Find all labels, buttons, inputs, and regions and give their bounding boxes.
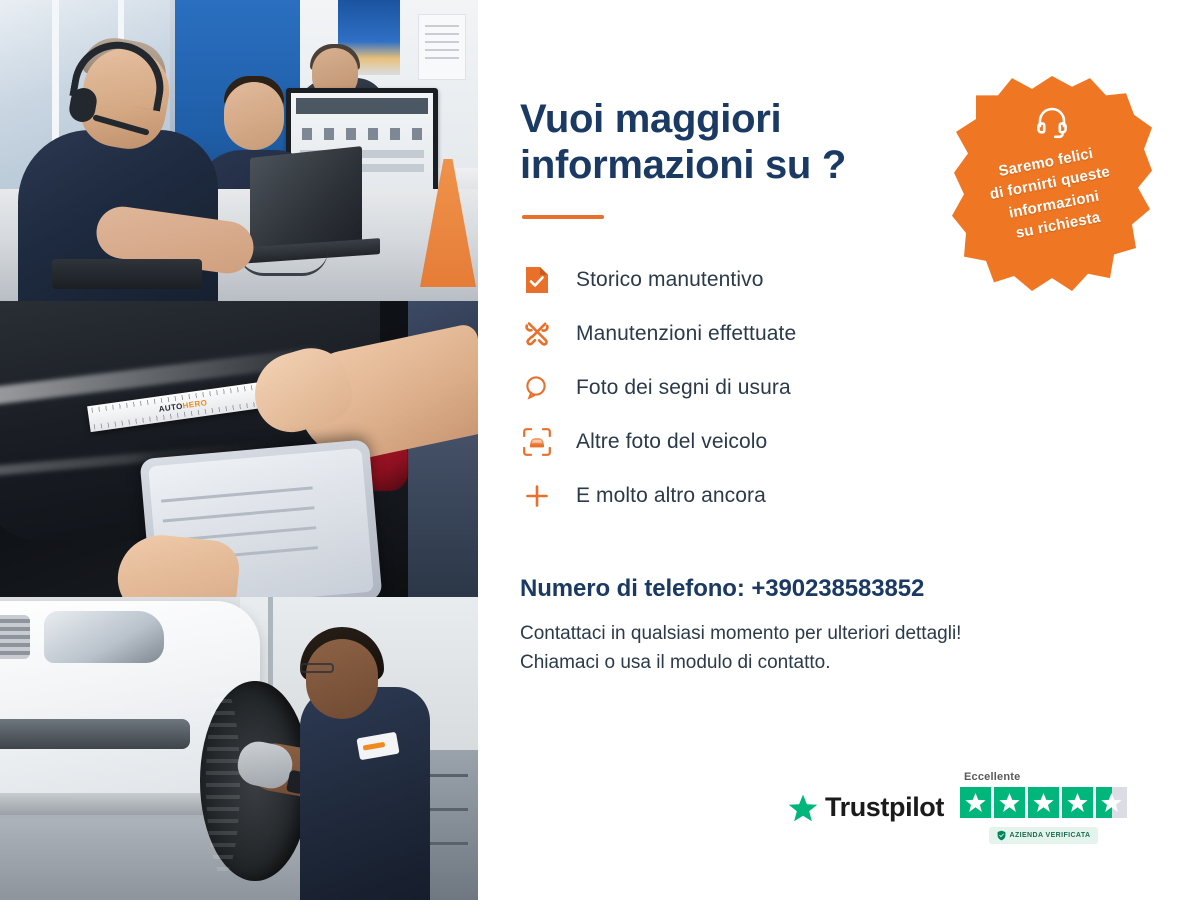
car-grille (0, 615, 30, 659)
monitor-screen-header (296, 98, 428, 114)
rating-star-filled (1028, 787, 1059, 818)
feature-label: Manutenzioni effettuate (576, 322, 796, 346)
feature-label: Foto dei segni di usura (576, 376, 791, 400)
laptop-screen (250, 146, 362, 254)
monitor-screen-icons (302, 128, 422, 140)
contact-detail-text: Contattaci in qualsiasi momento per ulte… (520, 619, 1140, 678)
contact-info-banner: AUTOHERO (0, 0, 1200, 900)
feature-label: Altre foto del veicolo (576, 430, 767, 454)
car-inspection-photo: AUTOHERO (0, 301, 478, 597)
mechanic-head (306, 639, 378, 719)
rating-star-filled (960, 787, 991, 818)
rating-star-filled (1062, 787, 1093, 818)
headset-icon (1032, 102, 1072, 142)
wheel-service-scene (0, 597, 478, 900)
car-inspection-scene: AUTOHERO (0, 301, 478, 597)
page-title: Vuoi maggiori informazioni su ? (520, 96, 940, 189)
accent-divider (522, 215, 604, 219)
trustpilot-star-icon (788, 793, 818, 823)
headline-line-two: informazioni su ? (520, 143, 846, 187)
feature-list: Storico manutentivo Manutenzioni effettu… (520, 253, 1200, 523)
plus-icon (520, 479, 554, 513)
feature-label: E molto altro ancora (576, 484, 766, 508)
desk-tablet (52, 259, 202, 289)
trustpilot-logo: Trustpilot (788, 792, 944, 823)
mechanic-body (300, 687, 430, 900)
request-info-badge: Saremo felici di fornirti queste informa… (952, 76, 1152, 291)
agent-two-head (224, 82, 284, 150)
call-center-scene (0, 0, 478, 301)
trustpilot-wordmark: Trustpilot (825, 792, 944, 823)
car-headlight (44, 611, 164, 663)
feature-item-vehicle-photos: Altre foto del veicolo (520, 415, 1200, 469)
verified-company-badge: AZIENDA VERIFICATA (989, 827, 1099, 844)
trustpilot-widget[interactable]: Trustpilot Eccellente AZIENDA VERIFICATA (788, 771, 1127, 844)
call-center-agents-photo (0, 0, 478, 301)
car-scan-icon (520, 425, 554, 459)
info-content-panel: Vuoi maggiori informazioni su ? Storico … (478, 0, 1200, 900)
document-check-icon (520, 263, 554, 297)
rating-star-filled (994, 787, 1025, 818)
contact-detail-line-one: Contattaci in qualsiasi momento per ulte… (520, 619, 1140, 648)
trustpilot-star-rating (960, 787, 1127, 818)
trustpilot-rating: Eccellente AZIENDA VERIFICATA (960, 771, 1127, 844)
wheel-service-photo (0, 597, 478, 900)
feature-item-maintenance-done: Manutenzioni effettuate (520, 307, 1200, 361)
car-bumper-vent (0, 719, 190, 749)
feature-label: Storico manutentivo (576, 268, 764, 292)
magnifier-icon (520, 371, 554, 405)
rating-star-half (1096, 787, 1127, 818)
feature-item-more: E molto altro ancora (520, 469, 1200, 523)
mechanic-glasses (300, 663, 334, 673)
feature-item-wear-photos: Foto dei segni di usura (520, 361, 1200, 415)
crossed-tools-icon (520, 317, 554, 351)
wall-sheet (418, 14, 466, 80)
phone-number-line: Numero di telefono: +390238583852 (520, 575, 1200, 603)
headline-line-one: Vuoi maggiori (520, 97, 781, 141)
tire-tread (206, 687, 240, 875)
verified-company-label: AZIENDA VERIFICATA (1010, 832, 1091, 839)
shield-check-icon (997, 830, 1006, 841)
contact-detail-line-two: Chiamaci o usa il modulo di contatto. (520, 648, 1140, 677)
photo-column: AUTOHERO (0, 0, 478, 900)
trustpilot-rating-label: Eccellente (964, 771, 1020, 783)
